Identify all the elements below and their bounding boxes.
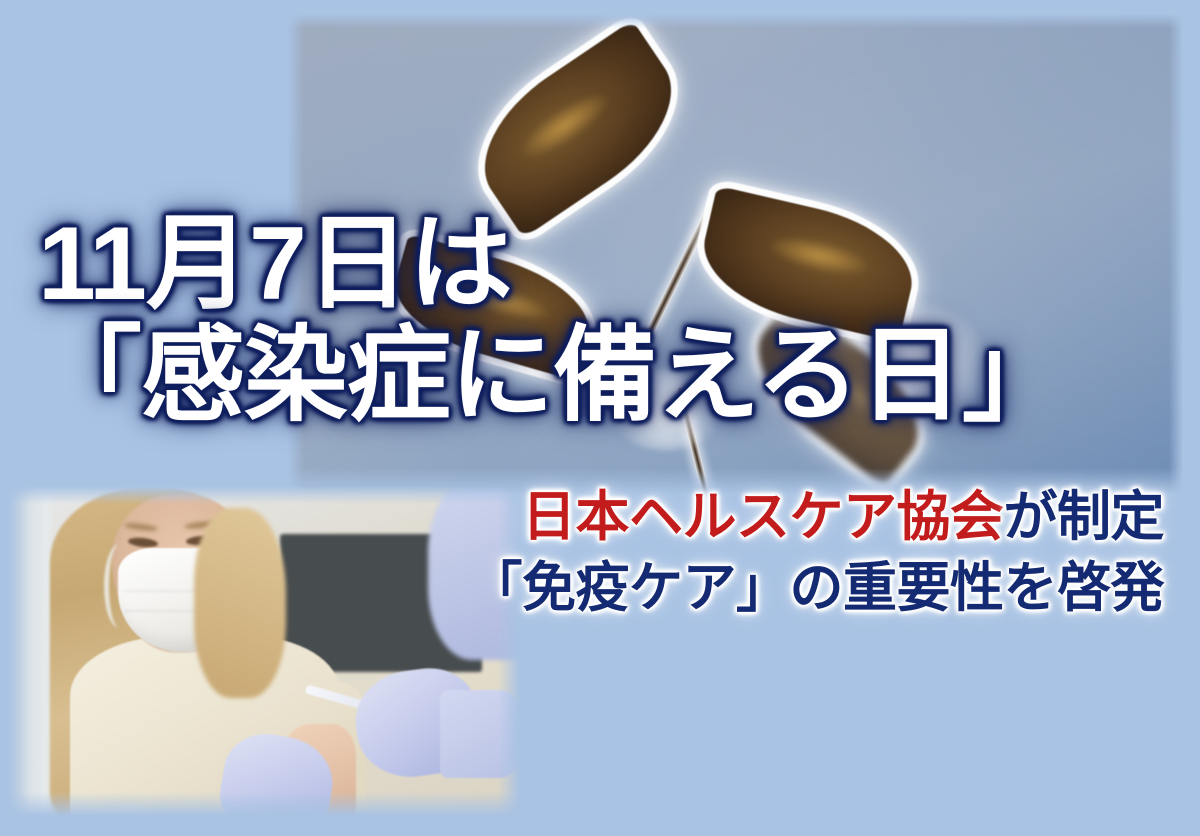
patient-hair-front [194, 508, 286, 698]
vaccination-photo [8, 486, 520, 816]
subtitle-line-1: 日本ヘルスケア協会が制定 [469, 482, 1165, 553]
headline-line-1: 11月7日は [38, 206, 1038, 322]
subtitle-organization: 日本ヘルスケア協会 [522, 487, 1004, 547]
headline: 11月7日は 「感染症に備える日」 [38, 206, 1038, 435]
subtitle-line-1-suffix: が制定 [1004, 487, 1165, 547]
subtitle-line-2: 「免疫ケア」の重要性を啓発 [469, 553, 1165, 624]
clinic-wall [8, 486, 50, 816]
poster-canvas: 11月7日は 「感染症に備える日」 日本ヘルスケア協会が制定 「免疫ケア」の重要… [0, 0, 1200, 836]
face-mask-strap [104, 544, 135, 628]
glove-cuff [440, 690, 520, 778]
subtitle: 日本ヘルスケア協会が制定 「免疫ケア」の重要性を啓発 [469, 482, 1165, 625]
headline-line-2: 「感染症に備える日」 [38, 318, 1038, 434]
